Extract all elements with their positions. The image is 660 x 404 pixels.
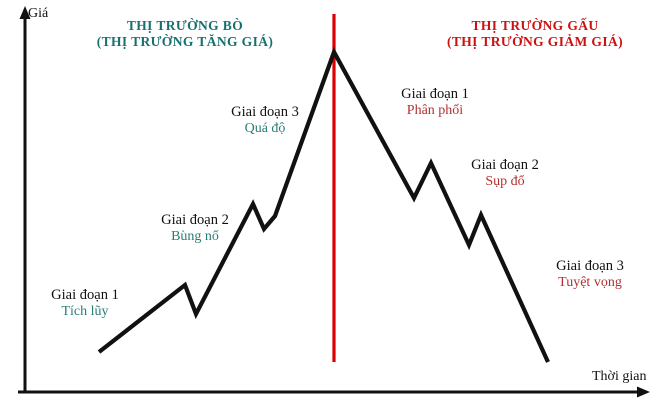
bull-market-title-line2: (THỊ TRƯỜNG TĂNG GIÁ) <box>60 34 310 50</box>
bull-market-title: THỊ TRƯỜNG BÒ (THỊ TRƯỜNG TĂNG GIÁ) <box>60 18 310 50</box>
phase-bear-1-sub: Phân phối <box>370 103 500 120</box>
y-axis-label: Giá <box>28 6 48 23</box>
phase-label-bull-3: Giai đoạn 3 Quá độ <box>200 104 330 138</box>
phase-label-bull-2: Giai đoạn 2 Bùng nổ <box>130 212 260 246</box>
phase-bull-3-title: Giai đoạn 3 <box>231 104 299 120</box>
phase-label-bear-2: Giai đoạn 2 Sụp đổ <box>440 157 570 191</box>
phase-bull-2-title: Giai đoạn 2 <box>161 212 229 228</box>
phase-bear-3-sub: Tuyệt vọng <box>520 275 660 292</box>
x-axis-label: Thời gian <box>592 369 646 386</box>
y-axis <box>20 6 31 392</box>
phase-bull-3-sub: Quá độ <box>200 121 330 138</box>
bull-market-title-line1: THỊ TRƯỜNG BÒ <box>127 18 243 33</box>
bear-market-title-line2: (THỊ TRƯỜNG GIẢM GIÁ) <box>420 34 650 50</box>
phase-label-bull-1: Giai đoạn 1 Tích lũy <box>20 287 150 321</box>
diagram-canvas: Giá Thời gian THỊ TRƯỜNG BÒ (THỊ TRƯỜNG … <box>0 0 660 404</box>
phase-bull-1-title: Giai đoạn 1 <box>51 287 119 303</box>
x-axis <box>18 387 650 398</box>
market-cycle-chart <box>0 0 660 404</box>
phase-bear-2-title: Giai đoạn 2 <box>471 157 539 173</box>
phase-bear-1-title: Giai đoạn 1 <box>401 86 469 102</box>
phase-bear-3-title: Giai đoạn 3 <box>556 258 624 274</box>
x-axis-arrowhead <box>637 387 650 398</box>
bear-market-title: THỊ TRƯỜNG GẤU (THỊ TRƯỜNG GIẢM GIÁ) <box>420 18 650 50</box>
phase-label-bear-1: Giai đoạn 1 Phân phối <box>370 86 500 120</box>
bear-market-title-line1: THỊ TRƯỜNG GẤU <box>471 18 598 33</box>
phase-bull-2-sub: Bùng nổ <box>130 229 260 246</box>
phase-bull-1-sub: Tích lũy <box>20 304 150 321</box>
phase-label-bear-3: Giai đoạn 3 Tuyệt vọng <box>520 258 660 292</box>
phase-bear-2-sub: Sụp đổ <box>440 174 570 191</box>
